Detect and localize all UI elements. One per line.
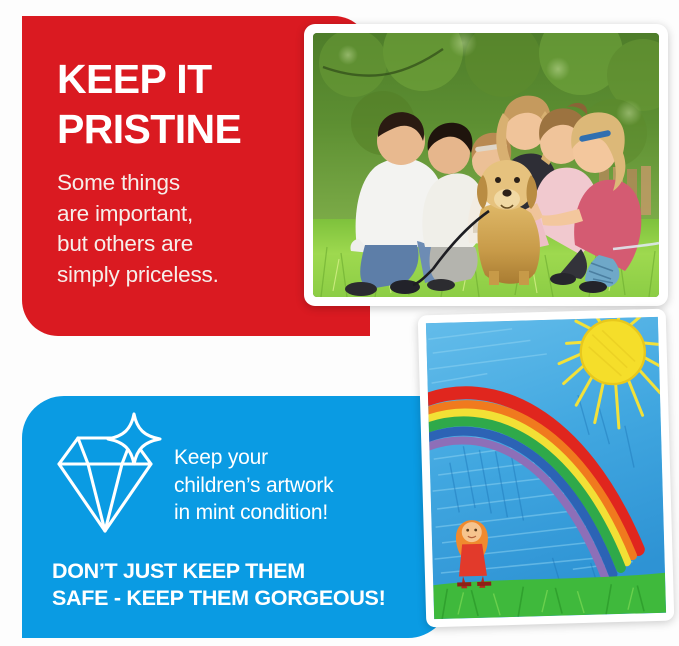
blue-body-copy: Keep your children’s artwork in mint con… bbox=[174, 444, 333, 527]
red-body-copy: Some things are important, but others ar… bbox=[57, 168, 219, 290]
family-photo-image bbox=[313, 33, 659, 297]
blue-message-panel: Keep your children’s artwork in mint con… bbox=[22, 396, 450, 638]
red-body-line-1: Some things bbox=[57, 168, 219, 199]
tagline-line-2: SAFE - KEEP THEM GORGEOUS! bbox=[52, 585, 385, 612]
headline-line-1: KEEP IT bbox=[57, 54, 241, 104]
child-artwork-image bbox=[426, 317, 666, 619]
page-title: KEEP IT PRISTINE bbox=[57, 54, 241, 154]
poster-canvas: KEEP IT PRISTINE Some things are importa… bbox=[0, 0, 679, 646]
tagline-line-1: DON’T JUST KEEP THEM bbox=[52, 558, 385, 585]
diamond-sparkle-icon bbox=[50, 412, 170, 542]
blue-copy-line-2: children’s artwork bbox=[174, 472, 333, 500]
blue-copy-line-3: in mint condition! bbox=[174, 499, 333, 527]
blue-copy-line-1: Keep your bbox=[174, 444, 333, 472]
red-body-line-3: but others are bbox=[57, 229, 219, 260]
headline-line-2: PRISTINE bbox=[57, 104, 241, 154]
red-body-line-4: simply priceless. bbox=[57, 260, 219, 291]
blue-tagline: DON’T JUST KEEP THEM SAFE - KEEP THEM GO… bbox=[52, 558, 385, 612]
red-body-line-2: are important, bbox=[57, 199, 219, 230]
child-artwork-card bbox=[418, 309, 675, 628]
family-photo-card bbox=[304, 24, 668, 306]
